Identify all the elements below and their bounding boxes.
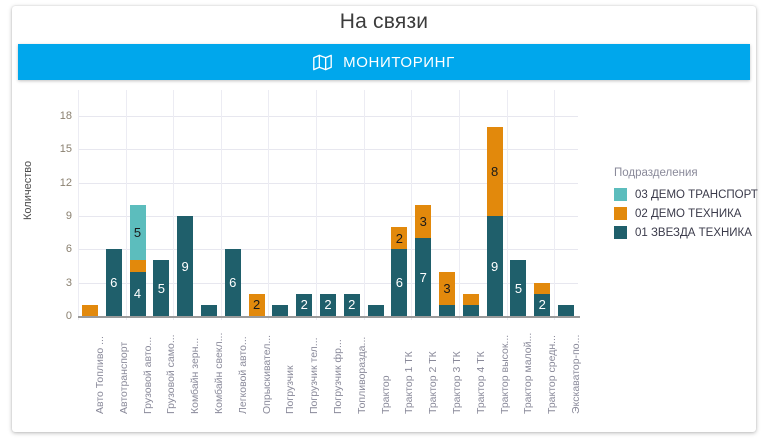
bar-value-label: 7: [420, 271, 427, 284]
bar-value-label: 3: [443, 282, 450, 295]
x-tick-label: Погрузчик тел...: [308, 337, 320, 414]
gridline: [78, 249, 578, 250]
bar-column[interactable]: 98: [487, 127, 503, 316]
x-tick-label: Комбайн зерн...: [189, 338, 201, 414]
bar-segment[interactable]: 2: [534, 294, 550, 316]
bar-segment[interactable]: 2: [296, 294, 312, 316]
bar-segment[interactable]: [201, 305, 217, 316]
x-tick-label: Опрыскивател...: [261, 335, 273, 414]
x-tick-label: Трактор средн...: [546, 335, 558, 414]
bar-value-label: 2: [539, 298, 546, 311]
x-tick-label: Грузовой авто...: [142, 337, 154, 414]
bar-segment[interactable]: 6: [106, 249, 122, 316]
gridline: [78, 149, 578, 150]
gridline-vertical: [411, 90, 412, 320]
gridline: [78, 183, 578, 184]
bar-segment[interactable]: 3: [439, 272, 455, 305]
bar-value-label: 6: [110, 276, 117, 289]
bar-column[interactable]: [558, 305, 574, 316]
bar-value-label: 8: [491, 165, 498, 178]
bar-column[interactable]: 6: [225, 249, 241, 316]
legend-rows: 03 ДЕМО ТРАНСПОРТ02 ДЕМО ТЕХНИКА01 ЗВЕЗД…: [614, 188, 764, 239]
x-tick-label: Авто Топливо ...: [94, 336, 106, 414]
y-tick-label: 12: [42, 177, 72, 189]
bar-segment[interactable]: [439, 305, 455, 316]
legend-swatch: [614, 207, 627, 220]
page-title: На связи: [12, 10, 756, 34]
y-tick-label: 6: [42, 243, 72, 255]
bar-column[interactable]: 5: [153, 260, 169, 316]
bar-value-label: 2: [301, 298, 308, 311]
legend-item[interactable]: 01 ЗВЕЗДА ТЕХНИКА: [614, 226, 764, 239]
bar-segment[interactable]: 2: [344, 294, 360, 316]
bar-value-label: 6: [229, 276, 236, 289]
x-tick-label: Автотранспорт: [118, 342, 130, 414]
bar-column[interactable]: [82, 305, 98, 316]
bar-segment[interactable]: 7: [415, 238, 431, 316]
bar-value-label: 2: [253, 298, 260, 311]
bar-segment[interactable]: 4: [130, 272, 146, 316]
y-axis-ticks: 0369121518: [26, 90, 72, 430]
gridline-vertical: [316, 90, 317, 320]
legend-title: Подразделения: [614, 167, 764, 179]
bar-segment[interactable]: [82, 305, 98, 316]
y-tick-label: 15: [42, 143, 72, 155]
bar-value-label: 2: [396, 232, 403, 245]
x-tick-label: Грузовой само...: [165, 334, 177, 414]
bar-column[interactable]: [272, 305, 288, 316]
gridline-vertical: [78, 90, 79, 320]
bar-column[interactable]: 9: [177, 216, 193, 316]
bar-value-label: 5: [515, 282, 522, 295]
bar-segment[interactable]: [463, 294, 479, 305]
gridline-vertical: [221, 90, 222, 320]
x-tick-label: Экскаватор-по...: [570, 335, 582, 414]
bar-column[interactable]: 62: [391, 227, 407, 316]
bar-column[interactable]: 45: [130, 205, 146, 316]
bar-value-label: 9: [182, 260, 189, 273]
x-tick-label: Трактор малой...: [522, 333, 534, 414]
y-tick-label: 9: [42, 210, 72, 222]
bar-segment[interactable]: [534, 283, 550, 294]
bar-column[interactable]: [368, 305, 384, 316]
bar-column[interactable]: [463, 294, 479, 316]
chart-legend: Подразделения 03 ДЕМО ТРАНСПОРТ02 ДЕМО Т…: [614, 167, 764, 245]
x-tick-label: Трактор 2 ТК: [427, 351, 439, 414]
gridline: [78, 116, 578, 117]
bar-segment[interactable]: 3: [415, 205, 431, 238]
bar-value-label: 2: [348, 298, 355, 311]
bar-column[interactable]: 73: [415, 205, 431, 316]
gridline-vertical: [459, 90, 460, 320]
y-tick-label: 0: [42, 310, 72, 322]
legend-swatch: [614, 226, 627, 239]
gridline-vertical: [364, 90, 365, 320]
gridline-vertical: [173, 90, 174, 320]
map-icon: [313, 53, 332, 72]
bar-segment[interactable]: [130, 260, 146, 271]
x-tick-label: Комбайн свекл...: [213, 333, 225, 414]
x-tick-label: Трактор 1 ТК: [403, 351, 415, 414]
bar-value-label: 5: [134, 226, 141, 239]
bar-segment[interactable]: 2: [320, 294, 336, 316]
bar-segment[interactable]: 5: [130, 205, 146, 261]
bar-segment[interactable]: [463, 305, 479, 316]
gridline-vertical: [126, 90, 127, 320]
chart-plot-area: Количество 0369121518 645596222262733985…: [12, 90, 756, 430]
x-tick-label: Трактор высок...: [499, 335, 511, 414]
bar-segment[interactable]: 8: [487, 127, 503, 216]
legend-item[interactable]: 03 ДЕМО ТРАНСПОРТ: [614, 188, 764, 201]
legend-item-label: 03 ДЕМО ТРАНСПОРТ: [635, 189, 758, 201]
bar-segment[interactable]: 9: [487, 216, 503, 316]
x-tick-label: Трактор 4 ТК: [475, 351, 487, 414]
bar-value-label: 5: [158, 282, 165, 295]
x-tick-label: Топливоразда...: [356, 337, 368, 414]
bar-segment[interactable]: 6: [225, 249, 241, 316]
x-axis-labels: Авто Топливо ...АвтотранспортГрузовой ав…: [78, 320, 578, 430]
bar-value-label: 9: [491, 260, 498, 273]
bar-value-label: 2: [324, 298, 331, 311]
bar-segment[interactable]: 2: [391, 227, 407, 249]
bar-segment[interactable]: 2: [249, 294, 265, 316]
x-tick-label: Трактор: [380, 375, 392, 414]
bar-segment[interactable]: 5: [510, 260, 526, 316]
bar-segment[interactable]: 9: [177, 216, 193, 316]
bar-value-label: 6: [396, 276, 403, 289]
bar-segment[interactable]: [368, 305, 384, 316]
bar-column[interactable]: 2: [534, 283, 550, 316]
bar-column[interactable]: 2: [296, 294, 312, 316]
x-tick-label: Легковой авто...: [237, 336, 249, 414]
gridline-vertical: [507, 90, 508, 320]
bar-column[interactable]: 5: [510, 260, 526, 316]
gridline-vertical: [554, 90, 555, 320]
bar-column[interactable]: 2: [344, 294, 360, 316]
monitoring-button-label: МОНИТОРИНГ: [343, 54, 455, 71]
dashboard-card: На связи МОНИТОРИНГ Количество 036912151…: [12, 6, 756, 432]
legend-item[interactable]: 02 ДЕМО ТЕХНИКА: [614, 207, 764, 220]
legend-item-label: 02 ДЕМО ТЕХНИКА: [635, 208, 741, 220]
bar-segment[interactable]: 6: [391, 249, 407, 316]
bar-segment[interactable]: 5: [153, 260, 169, 316]
bar-segment[interactable]: [558, 305, 574, 316]
bar-value-label: 3: [420, 215, 427, 228]
x-axis-line: [78, 316, 580, 318]
x-tick-label: Погрузчик фр...: [332, 339, 344, 414]
legend-swatch: [614, 188, 627, 201]
legend-item-label: 01 ЗВЕЗДА ТЕХНИКА: [635, 227, 752, 239]
bar-column[interactable]: 3: [439, 272, 455, 316]
x-tick-label: Трактор 3 ТК: [451, 351, 463, 414]
gridline: [78, 216, 578, 217]
x-tick-label: Погрузчик: [284, 365, 296, 414]
bar-column[interactable]: 2: [320, 294, 336, 316]
monitoring-button[interactable]: МОНИТОРИНГ: [18, 44, 750, 80]
bar-segment[interactable]: [272, 305, 288, 316]
bar-column[interactable]: 2: [249, 294, 265, 316]
gridline-vertical: [268, 90, 269, 320]
y-tick-label: 18: [42, 110, 72, 122]
bar-column[interactable]: 6: [106, 249, 122, 316]
y-tick-label: 3: [42, 277, 72, 289]
bar-value-label: 4: [134, 287, 141, 300]
bar-column[interactable]: [201, 305, 217, 316]
